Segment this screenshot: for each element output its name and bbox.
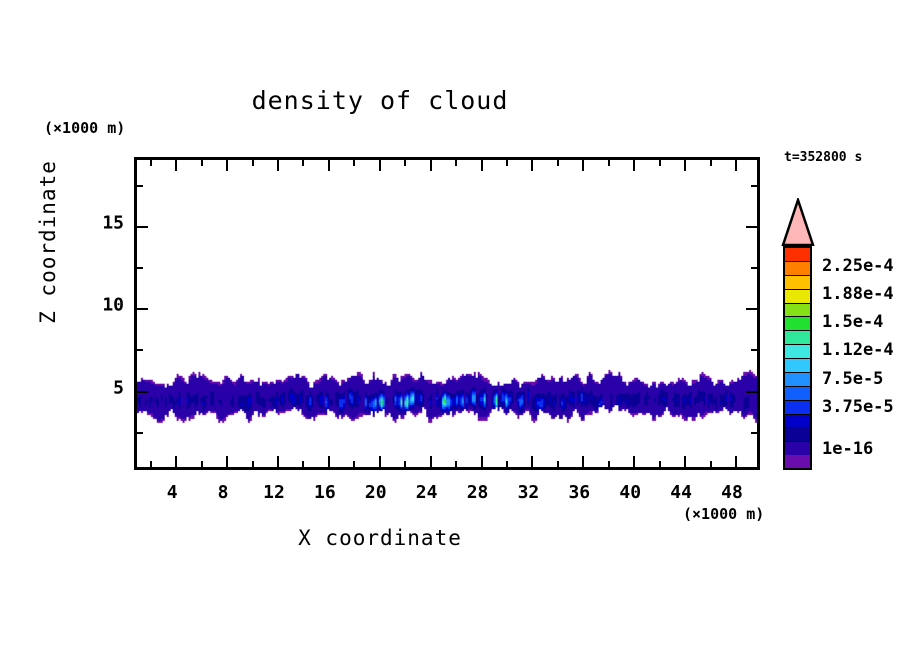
colorbar-segment	[785, 261, 810, 275]
axis-tick	[455, 160, 457, 166]
colorbar-segment	[785, 289, 810, 303]
colorbar: 2.25e-41.88e-41.5e-41.12e-47.5e-53.75e-5…	[780, 198, 900, 478]
axis-tick	[746, 226, 757, 228]
time-annotation: t=352800 s	[784, 150, 862, 165]
axis-tick	[633, 456, 635, 467]
axis-tick	[608, 160, 610, 166]
axis-tick	[379, 160, 381, 171]
x-tick-label: 12	[263, 482, 285, 503]
axis-tick	[137, 185, 143, 187]
axis-tick	[659, 461, 661, 467]
axis-tick	[582, 456, 584, 467]
colorbar-segment	[785, 372, 810, 386]
colorbar-gradient-strip	[783, 245, 812, 470]
y-axis-title: Z coordinate	[36, 142, 60, 342]
contour-field-canvas	[137, 160, 757, 467]
axis-tick	[328, 456, 330, 467]
axis-tick	[430, 160, 432, 171]
axis-tick	[137, 432, 143, 434]
colorbar-segment	[785, 455, 810, 468]
y-tick-label: 10	[88, 295, 124, 316]
colorbar-segment	[785, 247, 810, 261]
axis-tick	[201, 461, 203, 467]
colorbar-tick-label: 7.5e-5	[822, 369, 883, 389]
axis-tick	[710, 461, 712, 467]
axis-tick	[633, 160, 635, 171]
x-tick-label: 8	[218, 482, 229, 503]
axis-tick	[481, 160, 483, 171]
axis-tick	[582, 160, 584, 171]
colorbar-segment	[785, 386, 810, 400]
axis-tick	[430, 456, 432, 467]
x-tick-label: 28	[467, 482, 489, 503]
axis-tick	[404, 461, 406, 467]
axis-tick	[531, 456, 533, 467]
plot-area	[134, 157, 760, 470]
colorbar-segment	[785, 330, 810, 344]
axis-tick	[328, 160, 330, 171]
axis-tick	[137, 349, 143, 351]
axis-tick	[150, 461, 152, 467]
axis-tick	[353, 461, 355, 467]
axis-tick	[137, 267, 143, 269]
colorbar-segment	[785, 344, 810, 358]
axis-tick	[751, 185, 757, 187]
axis-tick	[137, 391, 148, 393]
colorbar-tick-label: 1.88e-4	[822, 284, 894, 304]
axis-tick	[277, 160, 279, 171]
colorbar-segment	[785, 427, 810, 441]
x-tick-label: 48	[721, 482, 743, 503]
axis-tick	[608, 461, 610, 467]
colorbar-tick-label: 1.5e-4	[822, 312, 883, 332]
axis-tick	[252, 461, 254, 467]
axis-tick	[684, 456, 686, 467]
colorbar-segment	[785, 414, 810, 428]
axis-tick	[252, 160, 254, 166]
colorbar-segment	[785, 275, 810, 289]
x-tick-label: 24	[416, 482, 438, 503]
axis-tick	[735, 456, 737, 467]
axis-tick	[746, 308, 757, 310]
axis-tick	[455, 461, 457, 467]
axis-tick	[175, 456, 177, 467]
colorbar-segment	[785, 303, 810, 317]
x-tick-label: 20	[365, 482, 387, 503]
figure-root: density of cloud (×1000 m) t=352800 s 48…	[0, 0, 904, 654]
x-tick-label: 32	[518, 482, 540, 503]
axis-tick	[751, 432, 757, 434]
x-tick-label: 40	[619, 482, 641, 503]
x-tick-label: 16	[314, 482, 336, 503]
axis-tick	[201, 160, 203, 166]
axis-tick	[226, 160, 228, 171]
axis-tick	[150, 160, 152, 166]
axis-tick	[557, 160, 559, 166]
axis-tick	[506, 160, 508, 166]
axis-tick	[751, 349, 757, 351]
axis-tick	[379, 456, 381, 467]
axis-tick	[735, 160, 737, 171]
axis-tick	[557, 461, 559, 467]
y-tick-label: 5	[88, 377, 124, 398]
axis-tick	[710, 160, 712, 166]
colorbar-segment	[785, 441, 810, 455]
x-axis-title: X coordinate	[0, 526, 760, 550]
axis-tick	[531, 160, 533, 171]
colorbar-segment	[785, 316, 810, 330]
colorbar-segment	[785, 358, 810, 372]
x-tick-label: 4	[167, 482, 178, 503]
axis-tick	[226, 456, 228, 467]
axis-tick	[277, 456, 279, 467]
axis-tick	[659, 160, 661, 166]
page-title: density of cloud	[0, 86, 760, 115]
x-axis-unit-label: (×1000 m)	[683, 505, 764, 523]
y-axis-unit-label: (×1000 m)	[44, 119, 125, 137]
colorbar-arrow-cap-icon	[780, 198, 816, 246]
y-tick-label: 15	[88, 212, 124, 233]
colorbar-segment	[785, 400, 810, 414]
x-tick-label: 36	[568, 482, 590, 503]
axis-tick	[175, 160, 177, 171]
axis-tick	[302, 461, 304, 467]
axis-tick	[751, 267, 757, 269]
axis-tick	[137, 308, 148, 310]
colorbar-tick-label: 2.25e-4	[822, 256, 894, 276]
axis-tick	[746, 391, 757, 393]
axis-tick	[353, 160, 355, 166]
axis-tick	[302, 160, 304, 166]
axis-tick	[137, 226, 148, 228]
colorbar-tick-label: 1.12e-4	[822, 340, 894, 360]
axis-tick	[684, 160, 686, 171]
axis-tick	[404, 160, 406, 166]
x-tick-label: 44	[670, 482, 692, 503]
axis-tick	[506, 461, 508, 467]
axis-tick	[481, 456, 483, 467]
colorbar-tick-label: 1e-16	[822, 439, 873, 459]
colorbar-tick-label: 3.75e-5	[822, 397, 894, 417]
